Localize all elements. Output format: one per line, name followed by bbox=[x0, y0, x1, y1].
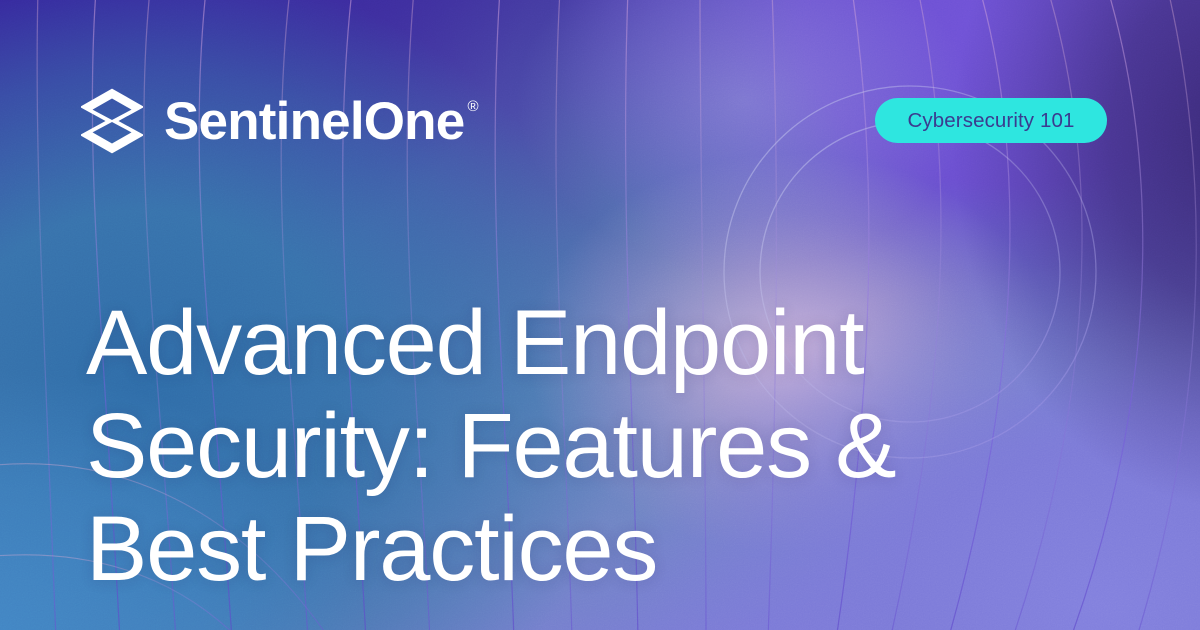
card-content: SentinelOne ® Cybersecurity 101 Advanced… bbox=[0, 0, 1200, 630]
category-badge[interactable]: Cybersecurity 101 bbox=[875, 98, 1107, 143]
sentinelone-hexagon-s-logo-icon bbox=[78, 87, 146, 155]
registered-trademark-icon: ® bbox=[467, 99, 478, 114]
page-title-line-3: Best Practices bbox=[86, 498, 1086, 601]
brand-lockup[interactable]: SentinelOne ® bbox=[78, 84, 479, 158]
page-title-line-2: Security: Features & bbox=[86, 395, 1086, 498]
brand-wordmark: SentinelOne ® bbox=[164, 95, 479, 148]
share-card: SentinelOne ® Cybersecurity 101 Advanced… bbox=[0, 0, 1200, 630]
category-badge-label: Cybersecurity 101 bbox=[908, 109, 1075, 133]
page-title: Advanced Endpoint Security: Features & B… bbox=[86, 292, 1086, 601]
page-title-line-1: Advanced Endpoint bbox=[86, 292, 1086, 395]
brand-name: SentinelOne bbox=[164, 95, 464, 148]
